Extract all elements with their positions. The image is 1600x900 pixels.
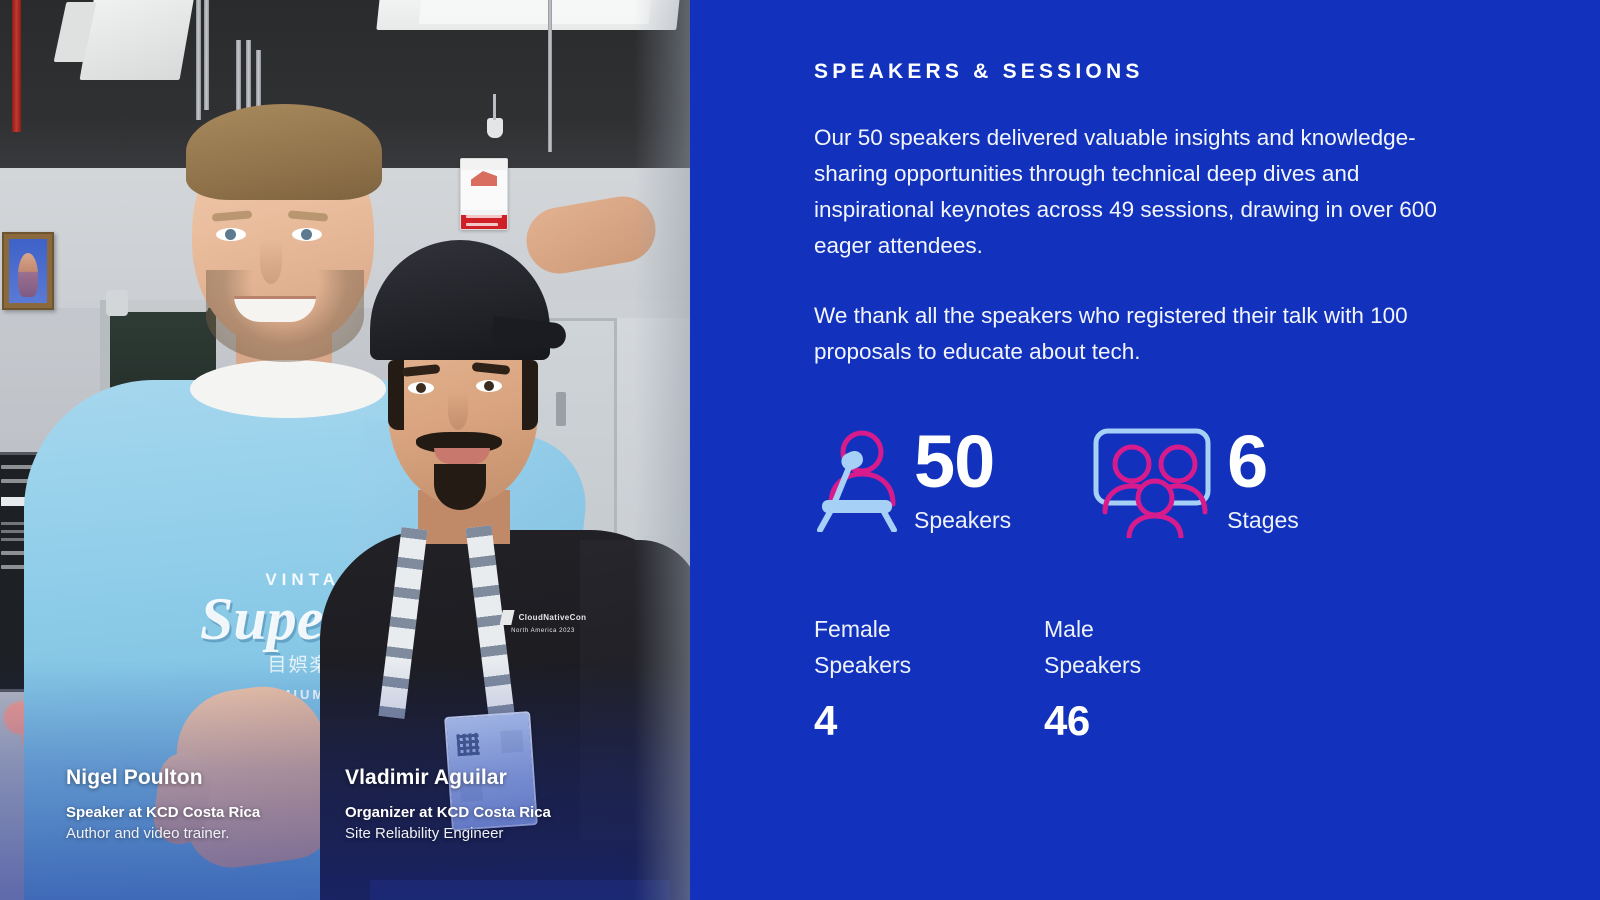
tshirt-logo: CloudNativeCon North America 2023 bbox=[478, 610, 608, 652]
stat-stages-number: 6 bbox=[1227, 426, 1299, 497]
stat-male-number: 46 bbox=[1044, 697, 1274, 745]
stat-female-number: 4 bbox=[814, 697, 1044, 745]
headline-stats-row: 50 Speakers 6 Stages bbox=[814, 426, 1540, 543]
cloudnativecon-mark-icon bbox=[500, 610, 515, 625]
sideburn bbox=[522, 360, 538, 430]
ceiling-pipe bbox=[204, 0, 209, 110]
stat-male-speakers: Male Speakers 46 bbox=[1044, 611, 1274, 745]
caption-name: Nigel Poulton bbox=[66, 766, 345, 790]
eye bbox=[216, 228, 246, 241]
caption-role: Speaker at KCD Costa Rica bbox=[66, 804, 345, 821]
beanie-cap bbox=[370, 240, 550, 360]
caption-nigel-poulton: Nigel Poulton Speaker at KCD Costa Rica … bbox=[66, 766, 345, 842]
section-eyebrow-heading: SPEAKERS & SESSIONS bbox=[814, 60, 1540, 84]
smile bbox=[234, 296, 316, 322]
stat-stages: 6 Stages bbox=[1091, 426, 1299, 543]
eye bbox=[292, 228, 322, 241]
stat-male-label-line1: Male bbox=[1044, 611, 1274, 647]
ceiling-pipe bbox=[548, 0, 552, 152]
ceiling-light bbox=[419, 0, 652, 24]
stage-audience-icon bbox=[1091, 426, 1213, 543]
stat-speakers-number: 50 bbox=[914, 426, 1011, 497]
photo-captions: Nigel Poulton Speaker at KCD Costa Rica … bbox=[0, 766, 690, 842]
eye bbox=[408, 382, 434, 394]
red-pipe bbox=[12, 0, 21, 132]
nose bbox=[448, 392, 468, 430]
ceiling-light bbox=[80, 0, 197, 80]
info-panel: SPEAKERS & SESSIONS Our 50 speakers deli… bbox=[690, 0, 1600, 900]
intro-paragraph-2: We thank all the speakers who registered… bbox=[814, 298, 1474, 370]
stat-stages-label: Stages bbox=[1227, 507, 1299, 534]
stat-female-label-line1: Female bbox=[814, 611, 1044, 647]
caption-name: Vladimir Aguilar bbox=[345, 766, 624, 790]
smile bbox=[434, 448, 490, 464]
stat-speakers-label: Speakers bbox=[914, 507, 1011, 534]
stat-male-label-line2: Speakers bbox=[1044, 647, 1274, 683]
jeans bbox=[370, 880, 670, 900]
caption-vladimir-aguilar: Vladimir Aguilar Organizer at KCD Costa … bbox=[345, 766, 624, 842]
caption-subtitle: Site Reliability Engineer bbox=[345, 825, 624, 842]
intro-paragraph-1: Our 50 speakers delivered valuable insig… bbox=[814, 120, 1474, 264]
gender-stats-row: Female Speakers 4 Male Speakers 46 bbox=[814, 611, 1540, 745]
stat-female-label-line2: Speakers bbox=[814, 647, 1044, 683]
framed-portrait bbox=[2, 232, 54, 310]
tshirt-logo-line2: North America 2023 bbox=[478, 628, 608, 634]
hair bbox=[186, 104, 382, 200]
eye bbox=[476, 380, 502, 392]
stat-stages-text: 6 Stages bbox=[1227, 426, 1299, 534]
caption-subtitle: Author and video trainer. bbox=[66, 825, 345, 842]
photo-panel: VINTAGE SuperDry 目娯楽节少 PREMIUM GOODS C bbox=[0, 0, 690, 900]
tshirt-logo-line1: CloudNativeCon bbox=[519, 613, 587, 622]
stat-speakers: 50 Speakers bbox=[814, 426, 1011, 537]
caption-role: Organizer at KCD Costa Rica bbox=[345, 804, 624, 821]
stat-female-speakers: Female Speakers 4 bbox=[814, 611, 1044, 745]
stat-speakers-text: 50 Speakers bbox=[914, 426, 1011, 534]
speaker-podium-icon bbox=[814, 426, 900, 537]
